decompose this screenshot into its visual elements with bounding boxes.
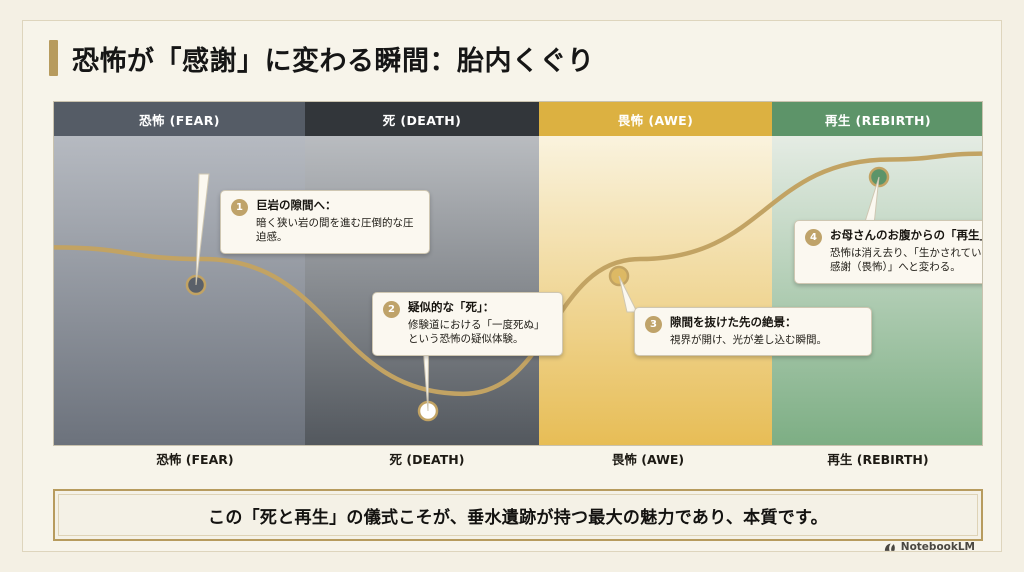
leader-line-3 bbox=[619, 276, 637, 312]
caption-box: この「死と再生」の儀式こそが、垂水遺跡が持つ最大の魅力であり、本質です。 bbox=[53, 489, 983, 541]
axis-label-4: 再生 (REBIRTH) bbox=[798, 449, 958, 468]
callout-4[interactable]: 4お母さんのお腹からの「再生」：恐怖は消え去り、「生かされていることへの感謝（畏… bbox=[794, 220, 983, 284]
notebooklm-icon bbox=[884, 542, 896, 553]
axis-label-3: 畏怖 (AWE) bbox=[568, 449, 728, 468]
callout-body-3: 視界が開け、光が差し込む瞬間。 bbox=[670, 333, 827, 347]
callout-title-2: 疑似的な「死」： bbox=[408, 300, 551, 316]
footer-brand-label: NotebookLM bbox=[901, 541, 975, 553]
callout-body-1: 暗く狭い岩の間を進む圧倒的な圧迫感。 bbox=[256, 216, 418, 245]
callout-title-1: 巨岩の隙間へ： bbox=[256, 198, 418, 214]
callout-number-3: 3 bbox=[645, 316, 662, 333]
page-title: 恐怖が「感謝」に変わる瞬間：胎内くぐり bbox=[72, 39, 595, 78]
callout-number-2: 2 bbox=[383, 301, 400, 318]
callout-number-4: 4 bbox=[805, 229, 822, 246]
callout-body-2: 修験道における「一度死ぬ」という恐怖の疑似体験。 bbox=[408, 318, 551, 347]
slide-card: 恐怖が「感謝」に変わる瞬間：胎内くぐり 恐怖 (FEAR)死 (DEATH)畏怖… bbox=[22, 20, 1002, 552]
callout-body-4: 恐怖は消え去り、「生かされていることへの感謝（畏怖）」へと変わる。 bbox=[830, 246, 983, 275]
leader-line-4 bbox=[864, 177, 879, 225]
emotion-arc-chart: 恐怖 (FEAR)死 (DEATH)畏怖 (AWE)再生 (REBIRTH) 1… bbox=[53, 101, 983, 446]
title-accent-bar bbox=[49, 40, 58, 76]
caption-text: この「死と再生」の儀式こそが、垂水遺跡が持つ最大の魅力であり、本質です。 bbox=[58, 494, 978, 536]
axis-labels: 恐怖 (FEAR)死 (DEATH)畏怖 (AWE)再生 (REBIRTH) bbox=[53, 449, 983, 475]
axis-label-2: 死 (DEATH) bbox=[347, 449, 507, 468]
footer-brand: NotebookLM bbox=[884, 541, 975, 553]
callout-2[interactable]: 2疑似的な「死」：修験道における「一度死ぬ」という恐怖の疑似体験。 bbox=[372, 292, 563, 356]
callout-title-4: お母さんのお腹からの「再生」： bbox=[830, 228, 983, 244]
callout-text-4: お母さんのお腹からの「再生」：恐怖は消え去り、「生かされていることへの感謝（畏怖… bbox=[830, 228, 983, 275]
callout-title-3: 隙間を抜けた先の絶景： bbox=[670, 315, 827, 331]
callout-3[interactable]: 3隙間を抜けた先の絶景：視界が開け、光が差し込む瞬間。 bbox=[634, 307, 872, 356]
callout-number-1: 1 bbox=[231, 199, 248, 216]
callout-text-1: 巨岩の隙間へ：暗く狭い岩の間を進む圧倒的な圧迫感。 bbox=[256, 198, 418, 245]
leader-line-1 bbox=[196, 174, 209, 285]
callout-1[interactable]: 1巨岩の隙間へ：暗く狭い岩の間を進む圧倒的な圧迫感。 bbox=[220, 190, 430, 254]
callout-text-3: 隙間を抜けた先の絶景：視界が開け、光が差し込む瞬間。 bbox=[670, 315, 827, 347]
title-row: 恐怖が「感謝」に変わる瞬間：胎内くぐり bbox=[49, 35, 959, 81]
callout-text-2: 疑似的な「死」：修験道における「一度死ぬ」という恐怖の疑似体験。 bbox=[408, 300, 551, 347]
axis-label-1: 恐怖 (FEAR) bbox=[115, 449, 275, 468]
